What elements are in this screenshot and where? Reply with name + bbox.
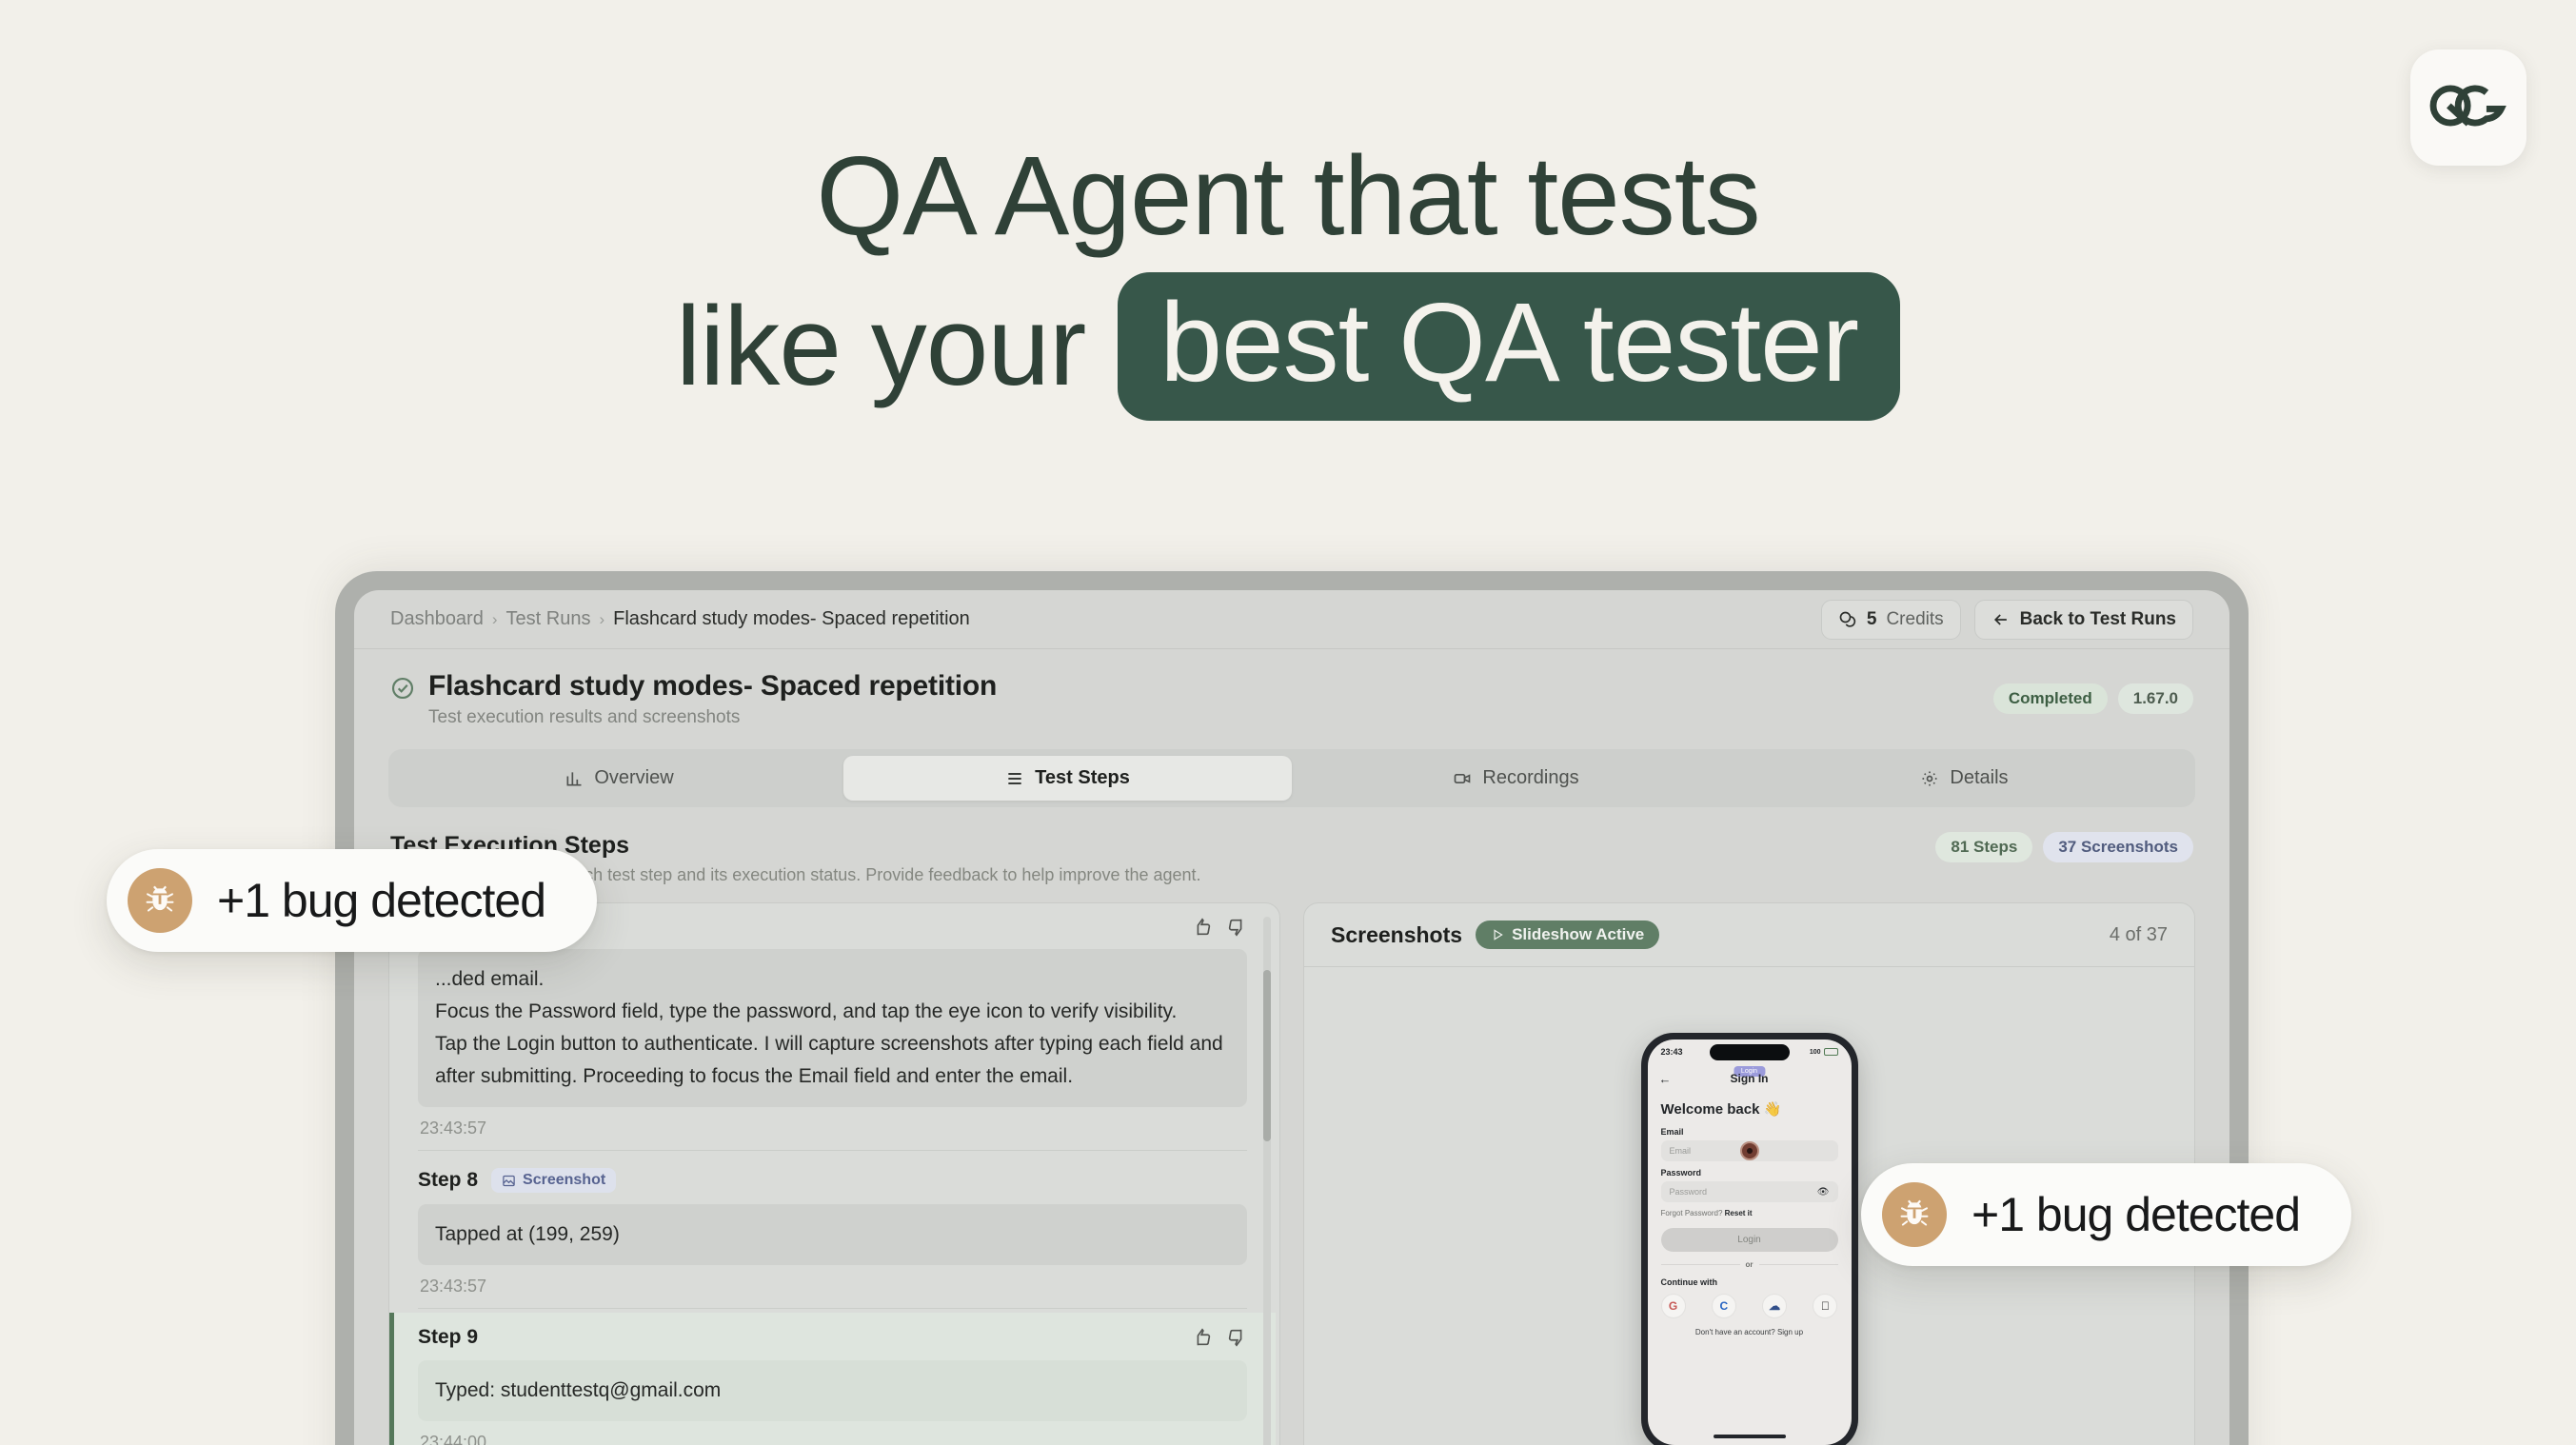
step-screenshot-badge-label: Screenshot (523, 1172, 605, 1189)
hero-headline: QA Agent that tests like your best QA te… (0, 143, 2576, 421)
test-steps-pane: ...ded email. Focus the Password field, … (388, 902, 1280, 1445)
phone-email-input[interactable]: Email (1661, 1140, 1838, 1161)
tab-details[interactable]: Details (1740, 756, 2189, 801)
bug-detected-toast: +1 bug detected (1861, 1163, 2351, 1266)
scrollbar-thumb[interactable] (1263, 970, 1271, 1141)
step-list[interactable]: ...ded email. Focus the Password field, … (389, 903, 1279, 1445)
phone-social-buttons: G C ☁  (1661, 1294, 1838, 1318)
phone-notch (1710, 1044, 1790, 1060)
phone-reset-link[interactable]: Reset it (1725, 1209, 1753, 1217)
phone-home-indicator (1714, 1435, 1786, 1438)
tab-overview-label: Overview (594, 767, 673, 789)
thumbs-up-icon[interactable] (1192, 917, 1213, 938)
phone-preview: 23:43 100 ← Login Sign In (1641, 1033, 1858, 1445)
phone-forgot-prefix: Forgot Password? (1661, 1209, 1723, 1217)
phone-or-label: or (1746, 1260, 1754, 1269)
test-run-title-block: Flashcard study modes- Spaced repetition… (354, 649, 2229, 745)
credits-button[interactable]: 5 Credits (1821, 600, 1961, 640)
phone-password-input[interactable]: Password 👁 (1661, 1181, 1838, 1202)
bug-icon (128, 868, 192, 933)
bug-toast-label: +1 bug detected (217, 873, 545, 928)
list-item[interactable]: Step 9 Typed: studenttestq@gmail.com (389, 1313, 1276, 1445)
app-breadcrumb-bar: Dashboard › Test Runs › Flashcard study … (354, 590, 2229, 649)
phone-password-label: Password (1661, 1168, 1838, 1178)
breadcrumb-item-current: Flashcard study modes- Spaced repetition (613, 608, 970, 630)
phone-continue-with-label: Continue with (1661, 1277, 1838, 1287)
check-circle-icon (390, 676, 415, 701)
cloud-signin-icon[interactable]: ☁ (1762, 1294, 1787, 1318)
tab-details-label: Details (1950, 767, 2008, 789)
tab-overview[interactable]: Overview (395, 756, 843, 801)
phone-email-label: Email (1661, 1127, 1838, 1137)
tap-indicator-icon (1740, 1141, 1759, 1160)
slideshow-label: Slideshow Active (1512, 925, 1644, 944)
headline-highlight-pill: best QA tester (1118, 272, 1900, 421)
phone-back-icon[interactable]: ← (1659, 1072, 1672, 1086)
phone-forgot-password[interactable]: Forgot Password? Reset it (1661, 1209, 1838, 1217)
bug-icon (1882, 1182, 1947, 1247)
breadcrumb-item-dashboard[interactable]: Dashboard (390, 608, 484, 630)
eye-icon[interactable]: 👁 (1817, 1187, 1830, 1198)
list-item[interactable]: Step 8 Screenshot Tapped at (199, 259) 2… (389, 1155, 1276, 1313)
slideshow-active-badge[interactable]: Slideshow Active (1476, 920, 1659, 949)
bug-detected-toast: +1 bug detected (107, 849, 597, 952)
phone-nav-bar: ← Login Sign In (1648, 1064, 1852, 1093)
page-subtitle: Test execution results and screenshots (428, 707, 997, 728)
tab-recordings[interactable]: Recordings (1292, 756, 1740, 801)
step-screenshot-badge[interactable]: Screenshot (491, 1168, 616, 1193)
divider (418, 1150, 1247, 1151)
step-name: Step 9 (418, 1326, 478, 1349)
app-screen: Dashboard › Test Runs › Flashcard study … (354, 590, 2229, 1445)
step-name: Step 8 (418, 1169, 478, 1192)
laptop-frame: Dashboard › Test Runs › Flashcard study … (335, 571, 2249, 1445)
credits-label: Credits (1886, 609, 1943, 630)
headline-line-2: like your best QA tester (0, 272, 2576, 421)
credits-count: 5 (1867, 609, 1877, 630)
step-body: Typed: studenttestq@gmail.com (418, 1360, 1247, 1421)
phone-battery-level: 100 (1810, 1049, 1821, 1056)
tab-bar: Overview Test Steps Recordings Details (388, 749, 2195, 807)
feedback-controls[interactable] (1192, 1327, 1247, 1348)
phone-login-button[interactable]: Login (1661, 1228, 1838, 1252)
thumbs-down-icon[interactable] (1226, 917, 1247, 938)
back-to-test-runs-button[interactable]: Back to Test Runs (1974, 600, 2193, 640)
feedback-controls[interactable] (1192, 917, 1247, 938)
phone-email-placeholder: Email (1670, 1146, 1692, 1156)
tab-test-steps[interactable]: Test Steps (843, 756, 1292, 801)
image-icon (502, 1174, 516, 1188)
divider (418, 1308, 1247, 1309)
phone-battery: 100 (1810, 1048, 1838, 1056)
play-icon (1491, 928, 1504, 941)
section-header: Test Execution Steps Detailed breakdown … (354, 807, 2229, 897)
google-signin-icon[interactable]: G (1661, 1294, 1686, 1318)
phone-nav-title: Sign In (1731, 1072, 1769, 1085)
thumbs-up-icon[interactable] (1192, 1327, 1213, 1348)
battery-icon (1824, 1048, 1838, 1056)
screenshots-count-badge: 37 Screenshots (2043, 832, 2193, 862)
phone-password-placeholder: Password (1670, 1187, 1708, 1197)
arrow-left-icon (1991, 610, 2011, 629)
screenshots-title: Screenshots (1331, 922, 1462, 948)
steps-count-badge: 81 Steps (1935, 832, 2032, 862)
chart-bar-icon (565, 769, 584, 788)
step-timestamp: 23:44:00 (418, 1421, 1247, 1445)
step-timestamp: 23:43:57 (418, 1265, 1247, 1302)
step-body: Tapped at (199, 259) (418, 1204, 1247, 1265)
version-badge: 1.67.0 (2118, 683, 2193, 714)
breadcrumb-item-test-runs[interactable]: Test Runs (506, 608, 591, 630)
bug-toast-label: +1 bug detected (1972, 1187, 2300, 1242)
video-icon (1453, 769, 1472, 788)
apple-signin-icon[interactable]:  (1813, 1294, 1837, 1318)
tab-test-steps-label: Test Steps (1035, 767, 1130, 789)
screenshot-counter: 4 of 37 (2110, 924, 2168, 946)
phone-or-divider: or (1661, 1260, 1838, 1269)
clever-signin-icon[interactable]: C (1712, 1294, 1736, 1318)
phone-welcome-heading: Welcome back 👋 (1661, 1100, 1838, 1118)
qg-monogram-icon (2427, 65, 2509, 151)
breadcrumb-separator-icon: › (599, 610, 604, 629)
list-icon (1005, 769, 1024, 788)
breadcrumb-separator-icon: › (492, 610, 498, 629)
phone-status-bar: 23:43 100 (1648, 1039, 1852, 1064)
gear-icon (1920, 769, 1939, 788)
coins-icon (1838, 610, 1857, 629)
step-timestamp: 23:43:57 (418, 1107, 1247, 1144)
breadcrumb: Dashboard › Test Runs › Flashcard study … (390, 608, 970, 630)
headline-line-2-plain: like your (676, 293, 1085, 400)
headline-line-1: QA Agent that tests (0, 143, 2576, 249)
step-body: ...ded email. Focus the Password field, … (418, 949, 1247, 1107)
back-label: Back to Test Runs (2020, 609, 2176, 630)
phone-screen: 23:43 100 ← Login Sign In (1648, 1039, 1852, 1445)
screenshots-header: Screenshots Slideshow Active 4 of 37 (1304, 903, 2194, 967)
status-badge: Completed (1993, 683, 2108, 714)
phone-signup-link[interactable]: Don't have an account? Sign up (1661, 1328, 1838, 1336)
thumbs-down-icon[interactable] (1226, 1327, 1247, 1348)
page-title: Flashcard study modes- Spaced repetition (428, 670, 997, 703)
tab-recordings-label: Recordings (1482, 767, 1578, 789)
phone-clock: 23:43 (1661, 1047, 1683, 1057)
